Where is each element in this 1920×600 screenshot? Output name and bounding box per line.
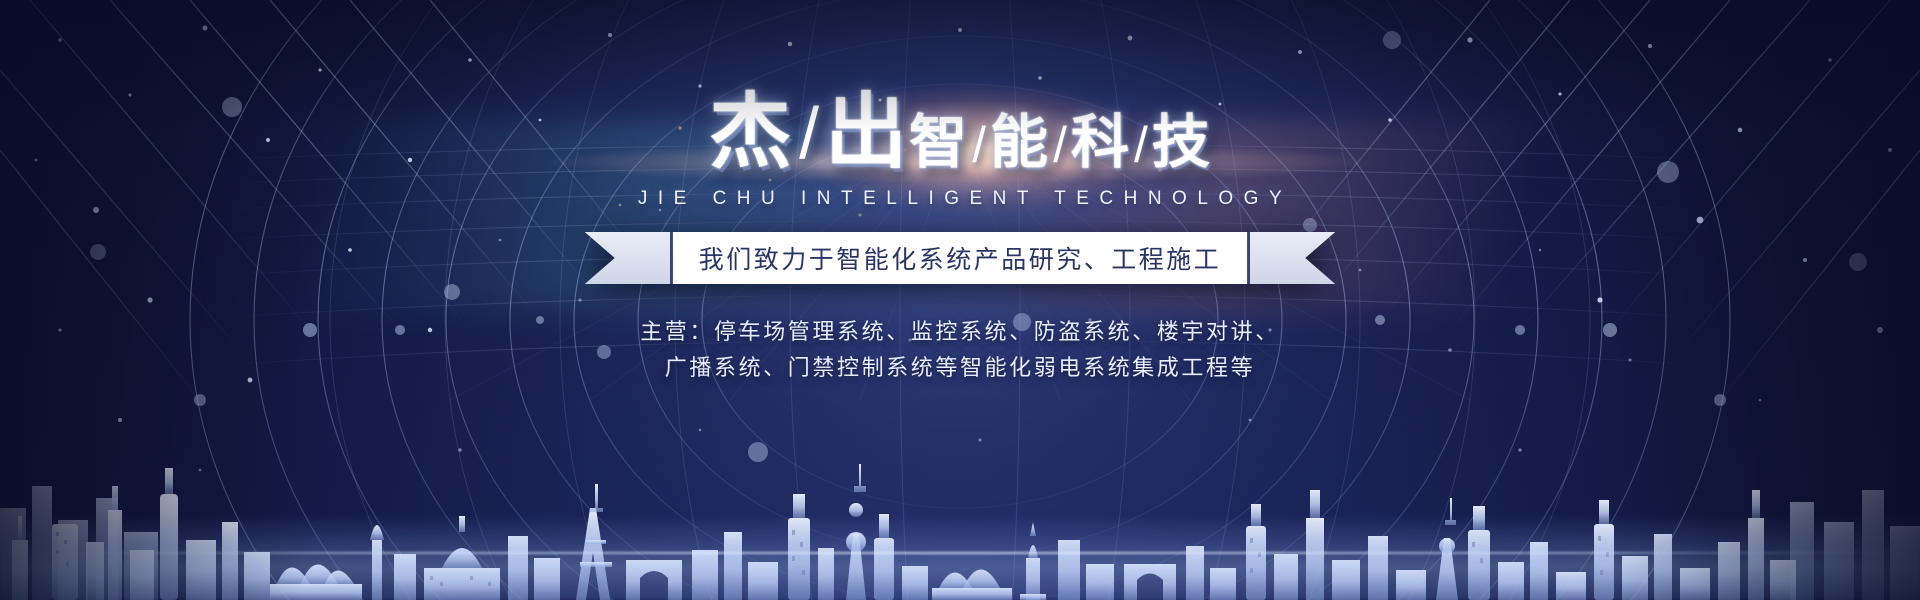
hero-banner: 杰 / 出 智 / 能 / 科 / 技 JIE CHU INTELLIGENT … [0,0,1920,600]
ribbon-tail-left [585,232,673,284]
title-char-ke: 科 [1071,114,1130,172]
title-slash-4: / [1130,120,1152,170]
title-char-ji: 技 [1152,114,1211,172]
title-char-zhi: 智 [909,114,968,172]
title-char-chu: 出 [825,92,909,174]
city-skyline-silhouette [0,390,1920,600]
title-slash-2: / [968,120,990,170]
title-char-neng: 能 [990,114,1049,172]
english-subtitle: JIE CHU INTELLIGENT TECHNOLOGY [628,188,1292,210]
title-char-jie: 杰 [709,92,793,174]
title-slash-3: / [1049,120,1071,170]
horizon-line [0,552,1920,554]
ribbon-body: 我们致力于智能化系统产品研究、工程施工 [673,232,1248,284]
main-title: 杰 / 出 智 / 能 / 科 / 技 [709,92,1211,174]
description-line-1: 主营：停车场管理系统、监控系统、防盗系统、楼宇对讲、 [640,314,1280,350]
description-line-2: 广播系统、门禁控制系统等智能化弱电系统集成工程等 [640,350,1280,386]
ground-haze [0,514,1920,600]
description-block: 主营：停车场管理系统、监控系统、防盗系统、楼宇对讲、 广播系统、门禁控制系统等智… [640,314,1280,385]
tagline-ribbon: 我们致力于智能化系统产品研究、工程施工 [585,232,1336,284]
ribbon-tail-right [1247,232,1335,284]
ribbon-text: 我们致力于智能化系统产品研究、工程施工 [699,240,1222,276]
title-slash-1: / [793,98,825,170]
banner-content: 杰 / 出 智 / 能 / 科 / 技 JIE CHU INTELLIGENT … [0,0,1920,385]
